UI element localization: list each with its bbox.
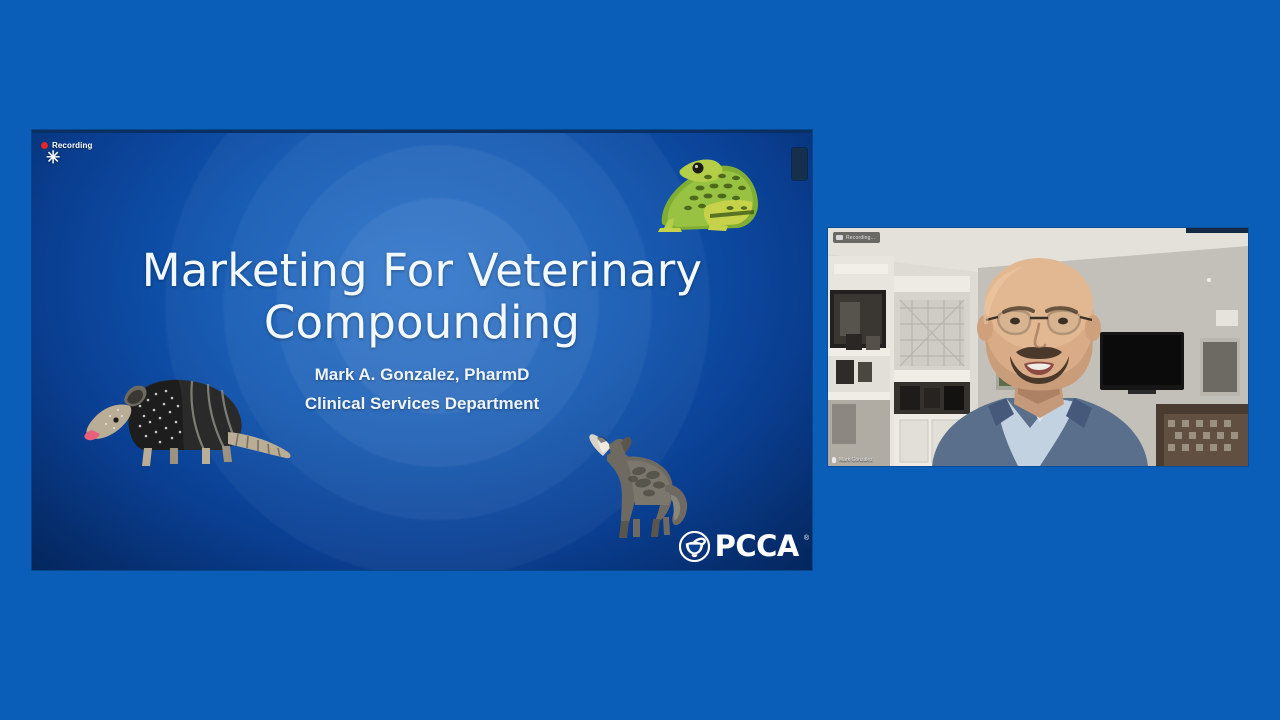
asterisk-icon: ✳ [46, 149, 60, 166]
video-feed [828, 228, 1248, 466]
video-top-bar [1186, 228, 1248, 233]
camera-icon [836, 235, 843, 240]
slide-edge-notch [792, 148, 807, 180]
microphone-icon [832, 457, 836, 463]
slide-top-rule [32, 130, 812, 133]
video-recording-label: Recording... [846, 235, 875, 241]
wolf-illustration [577, 425, 692, 540]
presenter-department: Clinical Services Department [92, 394, 752, 414]
participant-video-tile[interactable]: Recording... Mark Gonzalez [828, 228, 1248, 466]
trademark-symbol: ® [804, 535, 809, 542]
pcca-logo: PCCA ® [679, 531, 809, 562]
participant-name-badge: Mark Gonzalez [832, 457, 873, 463]
frog-illustration [650, 144, 770, 234]
video-recording-badge: Recording... [833, 232, 880, 243]
shared-slide[interactable]: Recording ✳ Marketing For Veterinary Com… [32, 130, 812, 570]
participant-name-label: Mark Gonzalez [839, 457, 873, 463]
slide-title: Marketing For Veterinary Compounding [92, 245, 752, 349]
presenter-name: Mark A. Gonzalez, PharmD [92, 365, 752, 385]
pcca-wordmark: PCCA [715, 532, 799, 561]
mortar-and-pestle-icon [679, 531, 710, 562]
